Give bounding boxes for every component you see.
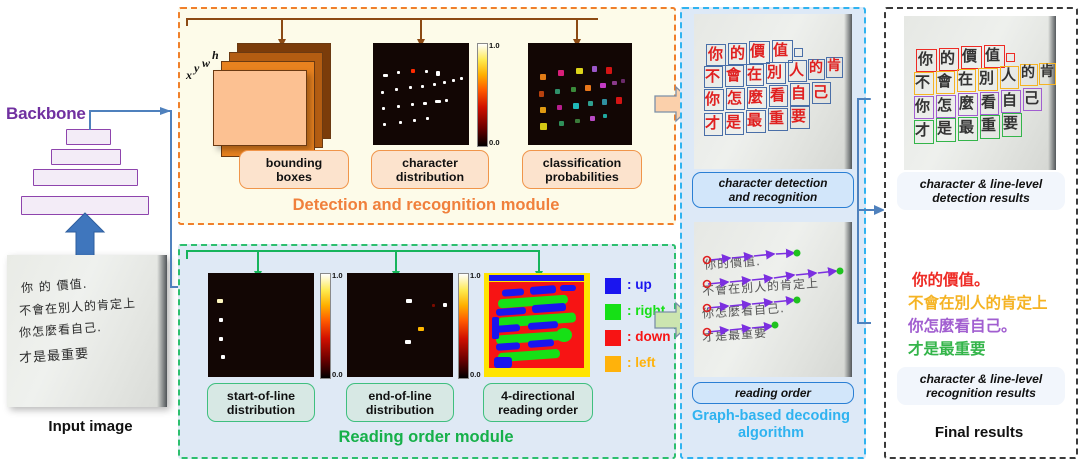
- caption-character-distribution: character distribution: [371, 150, 489, 189]
- input-image-caption: Input image: [33, 418, 148, 435]
- caption-character-distribution-l1: character: [402, 156, 458, 170]
- caption-final-detection-l1: character & line-level: [920, 177, 1043, 191]
- bbox-label-w: w: [202, 56, 210, 71]
- legend-swatch-up: [605, 278, 621, 294]
- decoding-bracket-top: [857, 98, 871, 100]
- figure-root: Backbone 你 的 價值. 不會在別人的肯定上 你怎麼看自己. 才是最重要…: [0, 0, 1080, 461]
- caption-4-directional-l2: reading order: [498, 403, 578, 417]
- caption-final-detection-results: character & line-level detection results: [897, 172, 1065, 210]
- backbone-label: Backbone: [6, 104, 86, 124]
- colorbar-max-3: 1.0: [470, 271, 481, 280]
- detection-bus-left-stub: [186, 18, 188, 26]
- caption-bounding-boxes-l2: boxes: [276, 170, 312, 184]
- reading-order-photo: 你的價值. 不會在別人的肯定上 你怎麼看自己. 才是最重要: [694, 222, 852, 377]
- end-of-line-heatmap: [347, 273, 453, 377]
- detection-branch-3: [576, 18, 578, 40]
- photo-shadow-edge: [157, 255, 167, 407]
- caption-character-distribution-l2: distribution: [396, 170, 464, 184]
- colorbar-min-2: 0.0: [332, 370, 343, 379]
- legend-label-left: : left: [627, 355, 656, 370]
- detection-branch-1: [281, 18, 283, 40]
- reading-branch-1: [257, 250, 259, 272]
- caption-reading-order: reading order: [692, 382, 854, 404]
- legend-swatch-down: [605, 330, 621, 346]
- caption-classification-probabilities: classification probabilities: [522, 150, 642, 189]
- reading-order-module-title: Reading order module: [186, 428, 666, 447]
- reading-branch-3: [538, 250, 540, 272]
- caption-bounding-boxes: bounding boxes: [239, 150, 349, 189]
- colorbar-max-2: 1.0: [332, 271, 343, 280]
- start-of-line-heatmap: [208, 273, 314, 377]
- caption-bounding-boxes-l1: bounding: [266, 156, 322, 170]
- caption-classification-probabilities-l1: classification: [543, 156, 622, 170]
- decoding-module-title-l1: Graph-based decoding: [692, 408, 850, 424]
- legend-label-up: : up: [627, 277, 652, 292]
- detection-branch-2: [420, 18, 422, 40]
- input-image: 你 的 價值. 不會在別人的肯定上 你怎麼看自己. 才是最重要: [7, 255, 167, 407]
- caption-start-of-line-l2: distribution: [227, 403, 295, 417]
- caption-final-recognition-l1: character & line-level: [920, 372, 1043, 386]
- start-of-line-colorbar: [320, 273, 331, 379]
- caption-cdr-l1: character detection: [719, 176, 828, 190]
- caption-end-of-line: end-of-line distribution: [346, 383, 454, 422]
- character-distribution-heatmap: [373, 43, 469, 145]
- caption-cdr-l2: and recognition: [729, 190, 817, 204]
- caption-start-of-line-l1: start-of-line: [227, 389, 295, 403]
- input-hw-line-4: 才是最重要: [18, 343, 89, 367]
- recognition-line-1: 你的價值。: [912, 268, 990, 290]
- bbox-label-x: x: [186, 68, 192, 83]
- caption-character-detection-and-recognition: character detection and recognition: [692, 172, 854, 208]
- input-hw-line-1: 你 的 價值.: [20, 275, 87, 297]
- backbone-connector-v1: [89, 111, 91, 130]
- bbox-label-y: y: [194, 61, 199, 76]
- final-results-title: Final results: [884, 424, 1074, 441]
- backbone-level-1: [66, 129, 111, 145]
- colorbar-min-3: 0.0: [470, 370, 481, 379]
- backbone-level-3: [33, 169, 138, 186]
- recognition-line-4: 才是最重要: [908, 337, 986, 359]
- detection-bus-line: [186, 18, 598, 20]
- colorbar-max-1: 1.0: [489, 41, 500, 50]
- end-of-line-colorbar: [458, 273, 469, 379]
- recognition-line-3: 你怎麼看自己。: [908, 314, 1017, 336]
- backbone-connector-h1: [89, 110, 171, 112]
- legend-swatch-right: [605, 304, 621, 320]
- reading-order-graph-edges-icon: [694, 222, 852, 377]
- input-hw-line-2: 不會在別人的肯定上: [19, 294, 137, 319]
- character-distribution-colorbar: [477, 43, 488, 147]
- caption-reading-order-text: reading order: [735, 386, 811, 400]
- decoding-bracket-v: [857, 98, 859, 324]
- reading-bus-left-stub: [186, 250, 188, 259]
- bbox-stack-layer-1: [213, 70, 307, 146]
- caption-final-recognition-l2: recognition results: [926, 386, 1036, 400]
- caption-4-directional-reading-order: 4-directional reading order: [483, 383, 593, 422]
- backbone-connector-v2: [170, 110, 172, 287]
- caption-final-recognition-results: character & line-level recognition resul…: [897, 367, 1065, 405]
- caption-end-of-line-l2: distribution: [366, 403, 434, 417]
- four-directional-reading-order-map: [484, 273, 590, 377]
- backbone-level-2: [51, 149, 121, 165]
- caption-final-detection-l2: detection results: [932, 191, 1030, 205]
- reading-bus-line: [186, 250, 540, 252]
- detection-module-title: Detection and recognition module: [186, 196, 666, 215]
- caption-4-directional-l1: 4-directional: [501, 389, 575, 403]
- final-detection-photo: 你 的 價 值 不 會 在 別 人 的 肯 你 怎 麼 看 自 己: [904, 16, 1056, 170]
- caption-end-of-line-l1: end-of-line: [368, 389, 431, 403]
- decoding-module-title: Graph-based decoding algorithm: [682, 408, 860, 442]
- reading-branch-2: [395, 250, 397, 272]
- legend-swatch-left: [605, 356, 621, 372]
- classification-probabilities-heatmap: [528, 43, 632, 145]
- caption-classification-probabilities-l2: probabilities: [545, 170, 619, 184]
- recognition-line-2: 不會在別人的肯定上: [908, 291, 1048, 313]
- input-to-backbone-arrow-icon: [60, 212, 110, 258]
- character-detection-photo: 你 的 價 值 不 會 在 別 人 的 肯 你 怎 麼 看 自 己: [694, 14, 852, 169]
- colorbar-min-1: 0.0: [489, 138, 500, 147]
- bbox-label-h: h: [212, 48, 219, 63]
- decoding-module-title-l2: algorithm: [738, 425, 804, 441]
- caption-start-of-line: start-of-line distribution: [207, 383, 315, 422]
- decoding-bracket-bottom: [857, 322, 871, 324]
- input-hw-line-3: 你怎麼看自己.: [19, 318, 103, 341]
